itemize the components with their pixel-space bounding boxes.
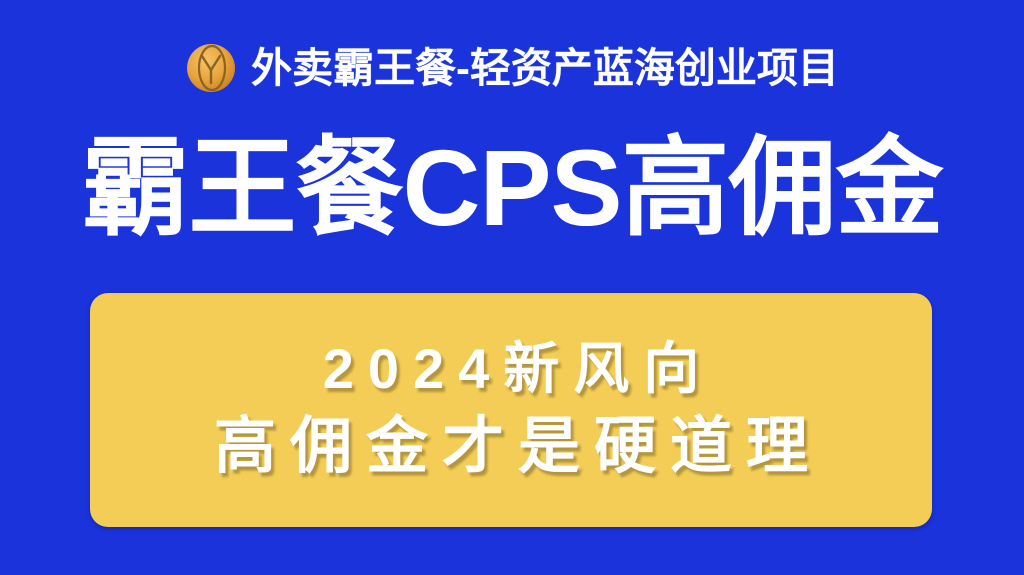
header: 外卖霸王餐-轻资产蓝海创业项目 [0, 36, 1024, 100]
promo-poster: 外卖霸王餐-轻资产蓝海创业项目 霸王餐CPS高佣金 2024新风向 高佣金才是硬… [0, 0, 1024, 575]
highlight-line-secondary: 高佣金才是硬道理 [200, 414, 822, 481]
brand-circle-monogram-icon [185, 42, 237, 94]
highlight-panel: 2024新风向 高佣金才是硬道理 [90, 293, 932, 527]
page-title: 霸王餐CPS高佣金 [0, 131, 1024, 245]
highlight-line-primary: 2024新风向 [309, 339, 714, 399]
brand-title: 外卖霸王餐-轻资产蓝海创业项目 [251, 48, 839, 89]
